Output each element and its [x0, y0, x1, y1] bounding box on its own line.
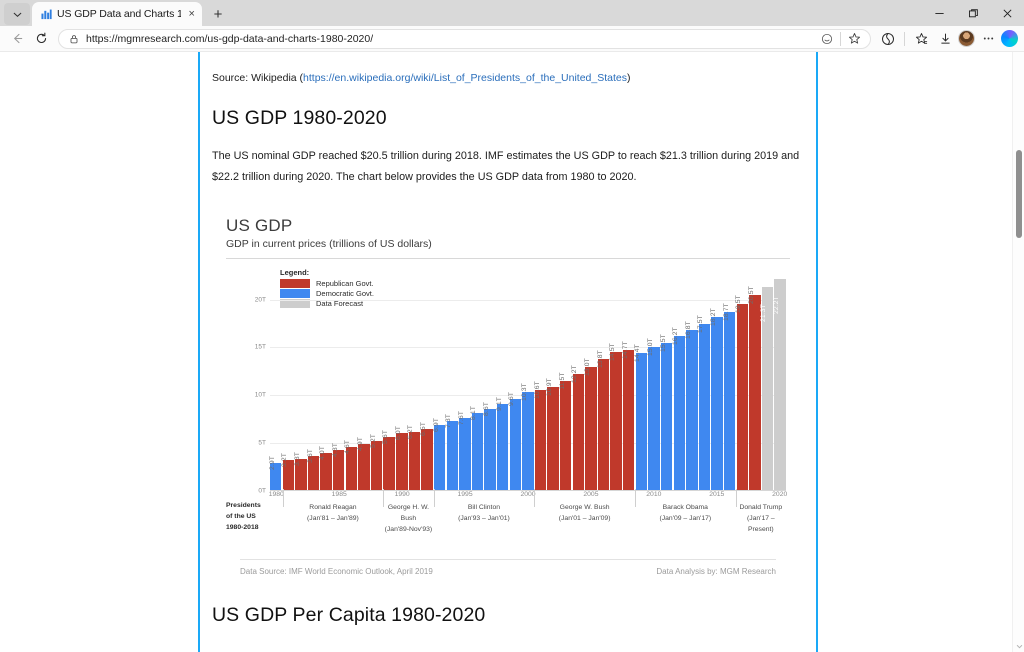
bar-column: 18.7T	[724, 273, 735, 491]
back-icon[interactable]	[6, 28, 28, 50]
page-title: US GDP 1980-2020	[212, 107, 804, 130]
bar-value-label: 14.4T	[634, 344, 641, 362]
x-axis-year-label: 2010	[646, 491, 661, 498]
bar	[409, 432, 420, 491]
lock-icon	[67, 32, 80, 45]
bar	[661, 343, 672, 491]
bar	[396, 433, 407, 490]
bar-column: 15.5T	[661, 273, 672, 491]
bar-value-label: 6.2T	[407, 425, 414, 439]
bar	[749, 295, 760, 491]
bar-column: 16.8T	[686, 273, 697, 491]
bar-value-label: 18.7T	[723, 303, 730, 321]
bar-column: 9.6T	[510, 273, 521, 491]
bar	[674, 336, 685, 491]
bar-column: 2.9T	[270, 273, 281, 491]
collections-icon[interactable]	[910, 28, 932, 50]
browser-toolbar: https://mgmresearch.com/us-gdp-data-and-…	[0, 26, 1024, 52]
bar-column: 4.0T	[320, 273, 331, 491]
president-dates: (Jan'17 – Present)	[736, 513, 786, 535]
bar-column: 13.8T	[598, 273, 609, 491]
address-bar-actions	[819, 31, 862, 47]
bar	[421, 429, 432, 491]
president-name: Presidents	[226, 500, 274, 511]
bar-column: 3.6T	[308, 273, 319, 491]
bar-value-label: 2.9T	[269, 456, 276, 470]
bar	[510, 399, 521, 491]
bar	[610, 352, 621, 491]
page-scrollbar[interactable]	[1012, 52, 1024, 652]
bar-value-label: 16.2T	[672, 327, 679, 345]
bar-column: 4.3T	[333, 273, 344, 491]
bar	[371, 441, 382, 491]
bar-column: 21.3T	[762, 273, 773, 491]
favorite-star-icon[interactable]	[846, 31, 862, 47]
close-icon[interactable]	[990, 0, 1024, 26]
page-subtitle-heading: US GDP Per Capita 1980-2020	[212, 604, 804, 627]
bar-column: 4.6T	[346, 273, 357, 491]
bar-column: 6.9T	[434, 273, 445, 491]
bar-value-label: 10.3T	[521, 383, 528, 401]
bar	[737, 304, 748, 490]
bar	[724, 312, 735, 491]
bar-value-label: 10.9T	[546, 378, 553, 396]
bar-column: 18.2T	[711, 273, 722, 491]
bar-value-label: 7.3T	[445, 414, 452, 428]
page-paragraph: The US nominal GDP reached $20.5 trillio…	[212, 146, 804, 188]
bar-column: 4.9T	[358, 273, 369, 491]
tab-list-dropdown-button[interactable]	[4, 3, 30, 25]
president-dates: (Jan'01 – Jan'09)	[534, 513, 635, 524]
chart-plot-area: 0T5T10T15T20T 2.9T3.2T3.3T3.6T4.0T4.3T4.…	[248, 273, 786, 491]
new-tab-button[interactable]: +	[205, 2, 231, 26]
chart-title: US GDP	[226, 216, 790, 236]
bar-value-label: 20.5T	[748, 286, 755, 304]
bar-column: 10.3T	[522, 273, 533, 491]
divider	[840, 32, 841, 46]
tab-strip: US GDP Data and Charts 1980-202 × +	[0, 0, 1024, 26]
bar-column: 6.5T	[421, 273, 432, 491]
y-axis-tick: 10T	[255, 392, 266, 399]
bar-value-label: 7.6T	[458, 411, 465, 425]
y-axis-tick: 15T	[255, 344, 266, 351]
bar-value-label: 14.7T	[622, 341, 629, 359]
bar-value-label: 6.0T	[395, 426, 402, 440]
bar-column: 10.6T	[535, 273, 546, 491]
bar-value-label: 4.0T	[319, 446, 326, 460]
chart-footer-source: Data Source: IMF World Economic Outlook,…	[240, 567, 433, 576]
bar	[358, 444, 369, 491]
settings-more-icon[interactable]	[977, 28, 999, 50]
bar	[573, 374, 584, 491]
y-axis-labels: 0T5T10T15T20T	[248, 273, 270, 491]
bar-column: 13.0T	[585, 273, 596, 491]
bar	[648, 347, 659, 490]
bar-column: 7.6T	[459, 273, 470, 491]
bar-value-label: 15.0T	[647, 338, 654, 356]
president-name: 1980-2018	[226, 522, 274, 533]
copilot-icon[interactable]	[1001, 30, 1018, 47]
president-name: Donald Trump	[736, 502, 786, 513]
address-bar[interactable]: https://mgmresearch.com/us-gdp-data-and-…	[58, 29, 871, 49]
x-axis-year-label: 1995	[458, 491, 473, 498]
source-line: Source: Wikipedia (https://en.wikipedia.…	[212, 71, 804, 87]
bar-value-label: 9.6T	[508, 392, 515, 406]
bar-value-label: 13.8T	[597, 350, 604, 368]
president-dates: (Jan'81 – Jan'89)	[283, 513, 384, 524]
president-name: Bill Clinton	[434, 502, 535, 513]
bar-column: 6.2T	[409, 273, 420, 491]
wikipedia-link[interactable]: https://en.wikipedia.org/wiki/List_of_Pr…	[303, 72, 627, 84]
bar-column: 15.0T	[648, 273, 659, 491]
scroll-down-arrow-icon[interactable]	[1013, 640, 1024, 652]
bar-column: 22.2T	[774, 273, 785, 491]
bar-value-label: 16.8T	[685, 321, 692, 339]
tab-close-icon[interactable]: ×	[186, 7, 197, 21]
bar-chart-icon	[40, 8, 52, 20]
address-bar-url: https://mgmresearch.com/us-gdp-data-and-…	[86, 33, 373, 45]
bar-value-label: 22.2T	[773, 296, 780, 314]
bar-value-label: 3.3T	[294, 452, 301, 466]
bar	[623, 350, 634, 491]
bar	[686, 330, 697, 491]
bar-value-label: 19.5T	[735, 295, 742, 313]
bar	[383, 437, 394, 491]
president-name: of the US	[226, 511, 274, 522]
bar-column: 8.6T	[484, 273, 495, 491]
refresh-icon[interactable]	[30, 28, 52, 50]
x-axis-year-label: 2005	[583, 491, 598, 498]
scrollbar-thumb[interactable]	[1016, 150, 1022, 238]
bar-value-label: 8.6T	[483, 402, 490, 416]
x-axis-year-label: 2015	[709, 491, 724, 498]
president-dates: (Jan'93 – Jan'01)	[434, 513, 535, 524]
bar-value-label: 3.6T	[307, 449, 314, 463]
chart-subtitle: GDP in current prices (trillions of US d…	[226, 238, 790, 250]
x-axis-year-label: 2000	[520, 491, 535, 498]
chart-footer-analysis: Data Analysis by: MGM Research	[656, 567, 776, 576]
x-axis-year-label: 1985	[332, 491, 347, 498]
bar	[699, 324, 710, 491]
bar	[535, 390, 546, 491]
browser-window: US GDP Data and Charts 1980-202 × +	[0, 0, 1024, 652]
bar-column: 14.4T	[636, 273, 647, 491]
bar-column: 5.2T	[371, 273, 382, 491]
president-name: Bush	[383, 513, 433, 524]
bar-column: 20.5T	[749, 273, 760, 491]
president-dates: (Jan'89-Nov'93)	[383, 524, 433, 535]
president-term-label: Presidentsof the US1980-2018	[226, 500, 274, 534]
divider	[904, 32, 905, 46]
president-dates: (Jan'09 – Jan'17)	[635, 513, 736, 524]
x-axis-year-label: 2020	[772, 491, 787, 498]
bar-value-label: 8.1T	[470, 406, 477, 420]
source-prefix: Source: Wikipedia (	[212, 72, 303, 84]
bar	[497, 404, 508, 491]
browser-essentials-icon[interactable]	[877, 28, 899, 50]
x-axis-year-label: 1990	[395, 491, 410, 498]
bar	[447, 421, 458, 491]
bar-value-label: 15.5T	[660, 334, 667, 352]
bar-column: 10.9T	[547, 273, 558, 491]
bar	[459, 418, 470, 491]
bar-column: 8.1T	[472, 273, 483, 491]
read-aloud-icon[interactable]	[819, 31, 835, 47]
bar-column: 5.6T	[383, 273, 394, 491]
profile-avatar[interactable]	[958, 30, 975, 47]
restore-icon[interactable]	[956, 0, 990, 26]
president-name: Ronald Reagan	[283, 502, 384, 513]
chevron-down-icon	[13, 10, 22, 19]
bar-value-label: 5.6T	[382, 430, 389, 444]
bar	[598, 359, 609, 491]
downloads-icon[interactable]	[934, 28, 956, 50]
page-viewport: Source: Wikipedia (https://en.wikipedia.…	[0, 52, 1024, 652]
tab-title: US GDP Data and Charts 1980-202	[57, 8, 181, 20]
source-suffix: )	[627, 72, 631, 84]
bar-value-label: 4.3T	[332, 443, 339, 457]
bar-column: 3.3T	[295, 273, 306, 491]
bar-value-label: 4.6T	[344, 440, 351, 454]
page-content-highlight: Source: Wikipedia (https://en.wikipedia.…	[198, 52, 818, 652]
president-term-label: Barack Obama(Jan'09 – Jan'17)	[635, 502, 736, 524]
bar-column: 14.5T	[610, 273, 621, 491]
bar	[434, 425, 445, 491]
chart-footer: Data Source: IMF World Economic Outlook,…	[226, 560, 790, 576]
chart-divider	[226, 258, 790, 259]
y-axis-tick: 5T	[258, 440, 266, 447]
bar-value-label: 10.6T	[534, 381, 541, 399]
browser-tab[interactable]: US GDP Data and Charts 1980-202 ×	[32, 2, 202, 26]
bar-column: 3.2T	[283, 273, 294, 491]
president-name: Barack Obama	[635, 502, 736, 513]
bar	[472, 413, 483, 490]
bar	[547, 387, 558, 491]
bar-column: 11.5T	[560, 273, 571, 491]
president-term-label: Ronald Reagan(Jan'81 – Jan'89)	[283, 502, 384, 524]
bar-column: 7.3T	[447, 273, 458, 491]
bar-value-label: 13.0T	[584, 358, 591, 376]
president-name: George W. Bush	[534, 502, 635, 513]
gdp-chart-card: US GDP GDP in current prices (trillions …	[212, 206, 804, 582]
minimize-icon[interactable]	[922, 0, 956, 26]
president-term-label: Bill Clinton(Jan'93 – Jan'01)	[434, 502, 535, 524]
bar	[585, 367, 596, 491]
bar	[636, 353, 647, 491]
bar-column: 9.1T	[497, 273, 508, 491]
y-axis-tick: 20T	[255, 296, 266, 303]
bar-column: 6.0T	[396, 273, 407, 491]
bar-value-label: 11.5T	[559, 372, 566, 389]
bar-column: 19.5T	[737, 273, 748, 491]
bar-value-label: 9.1T	[496, 397, 503, 411]
president-name: George H. W.	[383, 502, 433, 513]
bar-value-label: 6.5T	[420, 422, 427, 436]
bar-value-label: 5.2T	[370, 434, 377, 448]
bar-column: 12.2T	[573, 273, 584, 491]
bar	[484, 409, 495, 491]
bar-value-label: 14.5T	[609, 343, 616, 361]
bar-value-label: 18.2T	[710, 308, 717, 326]
bar	[560, 381, 571, 491]
bar-value-label: 17.5T	[697, 315, 704, 333]
bar-column: 14.7T	[623, 273, 634, 491]
president-term-label: Donald Trump(Jan'17 – Present)	[736, 502, 786, 536]
bar-column: 16.2T	[674, 273, 685, 491]
bar-value-label: 21.3T	[760, 304, 767, 322]
bar	[711, 317, 722, 491]
bar-column: 17.5T	[699, 273, 710, 491]
y-axis-tick: 0T	[258, 487, 266, 494]
bar-value-label: 3.2T	[281, 453, 288, 467]
bar-value-label: 4.9T	[357, 437, 364, 451]
window-controls	[922, 0, 1024, 26]
president-term-label: George H. W.Bush(Jan'89-Nov'93)	[383, 502, 433, 536]
bar	[522, 392, 533, 490]
chart-bars: 2.9T3.2T3.3T3.6T4.0T4.3T4.6T4.9T5.2T5.6T…	[270, 273, 786, 491]
x-axis-year-label: 1980	[269, 491, 284, 498]
x-axis-presidents: 198019851990199520002005201020152020Pres…	[270, 491, 786, 553]
president-term-label: George W. Bush(Jan'01 – Jan'09)	[534, 502, 635, 524]
bar-value-label: 6.9T	[433, 418, 440, 432]
bar-value-label: 12.2T	[571, 365, 578, 383]
